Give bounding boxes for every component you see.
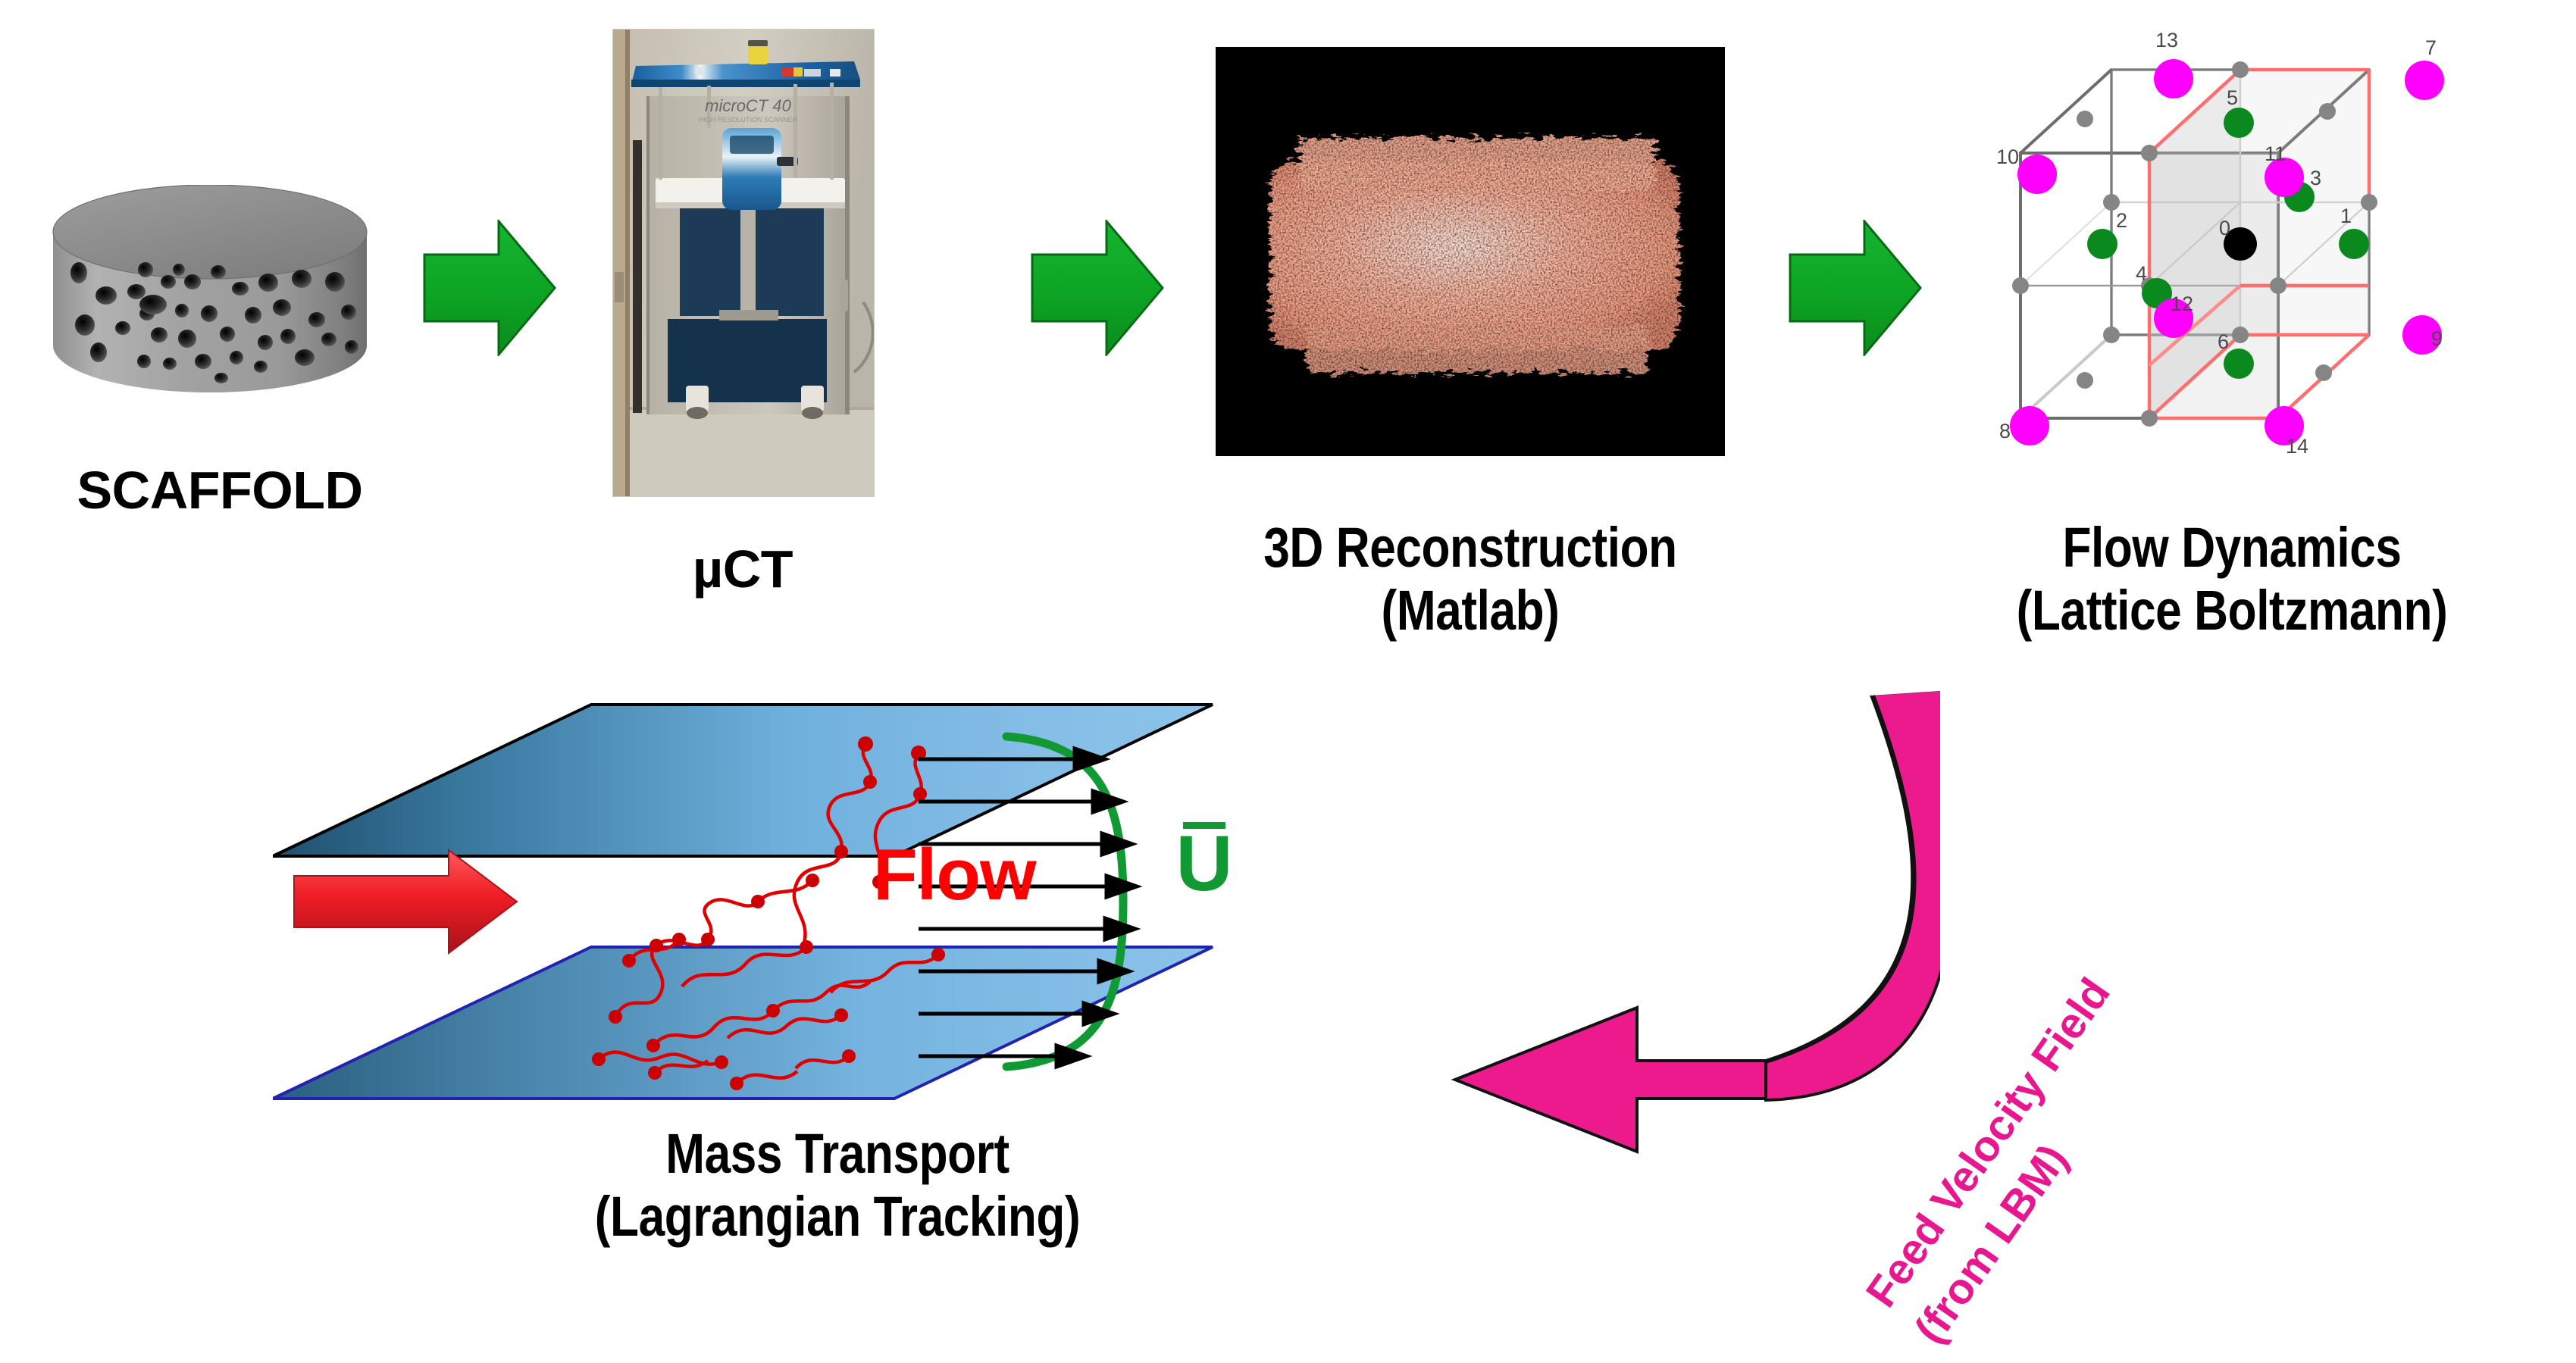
mass-transport-caption: Mass Transport (Lagrangian Tracking) <box>408 1123 1267 1249</box>
flow-dynamics-caption: Flow Dynamics (Lattice Boltzmann) <box>1911 517 2553 642</box>
d3q15-lattice-icon: 0 1 2 3 4 5 6 7 8 9 10 11 12 13 14 <box>1967 17 2445 471</box>
lattice-node-7 <box>2405 61 2444 100</box>
lattice-label-8: 8 <box>1999 420 2011 442</box>
feedback-arrow-label: Feed Velocity Field (from LBM) <box>1811 803 2372 1333</box>
scaffold-caption-line-1: SCAFFOLD <box>77 461 362 520</box>
scaffold-graphic <box>47 185 373 420</box>
porous-cylinder-icon <box>47 185 373 420</box>
mass-transport-caption-line-1: Mass Transport <box>408 1123 1267 1186</box>
lattice-label-0: 0 <box>2219 217 2230 239</box>
lattice-label-6: 6 <box>2218 330 2229 353</box>
lattice-node-10 <box>2017 155 2057 194</box>
mean-velocity-label: U <box>1155 822 1254 896</box>
lattice-label-11: 11 <box>2265 142 2286 165</box>
flow-dynamics-caption-line-1: Flow Dynamics <box>1911 517 2553 580</box>
flow-dynamics-caption-line-2: (Lattice Boltzmann) <box>1911 580 2553 642</box>
uct-caption: µCT <box>599 539 887 599</box>
lattice-node-2 <box>2087 229 2117 259</box>
reconstruction-caption: 3D Reconstruction (Matlab) <box>1146 517 1795 642</box>
mass-transport-graphic <box>273 689 1410 1114</box>
lattice-node-13 <box>2154 59 2193 98</box>
top-plate <box>273 705 1213 856</box>
lattice-label-2: 2 <box>2116 209 2127 232</box>
reconstruction-caption-line-1: 3D Reconstruction <box>1146 517 1795 580</box>
lattice-label-4: 4 <box>2136 262 2147 285</box>
lattice-label-7: 7 <box>2425 36 2437 59</box>
lattice-label-9: 9 <box>2431 327 2443 350</box>
lattice-stencil-graphic: 0 1 2 3 4 5 6 7 8 9 10 11 12 13 14 <box>1967 17 2445 471</box>
arrow-uct-to-reconstruction <box>1029 220 1166 356</box>
svg-text:microCT 40: microCT 40 <box>705 96 791 115</box>
lattice-node-5 <box>2224 108 2254 138</box>
mass-transport-caption-line-2: (Lagrangian Tracking) <box>408 1186 1267 1249</box>
right-arrow-icon <box>421 220 558 356</box>
lattice-label-12: 12 <box>2171 292 2193 315</box>
lattice-node-1 <box>2339 229 2369 259</box>
lattice-label-3: 3 <box>2310 167 2321 189</box>
lattice-node-6 <box>2224 349 2254 379</box>
lattice-node-8 <box>2010 406 2049 445</box>
inlet-flow-arrow <box>294 850 517 953</box>
lattice-label-14: 14 <box>2286 435 2308 458</box>
svg-text:HIGH RESOLUTION SCANNER: HIGH RESOLUTION SCANNER <box>699 116 798 123</box>
lattice-label-10: 10 <box>1996 145 2019 168</box>
microct-scanner-photo: microCT 40 HIGH RESOLUTION SCANNER <box>612 29 875 497</box>
microct-machine-icon: microCT 40 HIGH RESOLUTION SCANNER <box>613 30 874 496</box>
mean-velocity-symbol: U <box>1155 832 1254 896</box>
lattice-label-13: 13 <box>2155 29 2178 52</box>
right-arrow-icon <box>1029 220 1166 356</box>
right-arrow-icon <box>1787 220 1923 356</box>
scaffold-caption: SCAFFOLD <box>0 461 440 520</box>
uct-caption-line-1: µCT <box>693 539 793 599</box>
arrow-scaffold-to-uct <box>421 220 558 356</box>
lattice-label-1: 1 <box>2340 205 2352 227</box>
reconstruction-caption-line-2: (Matlab) <box>1146 580 1795 642</box>
flow-label: Flow <box>873 833 1036 917</box>
lattice-label-5: 5 <box>2227 86 2238 109</box>
reconstruction-volume-render <box>1216 47 1725 456</box>
flow-label-text: Flow <box>873 834 1036 915</box>
arrow-reconstruction-to-lattice <box>1787 220 1923 356</box>
porous-volume-icon <box>1216 47 1725 456</box>
channel-flow-icon <box>273 689 1410 1114</box>
